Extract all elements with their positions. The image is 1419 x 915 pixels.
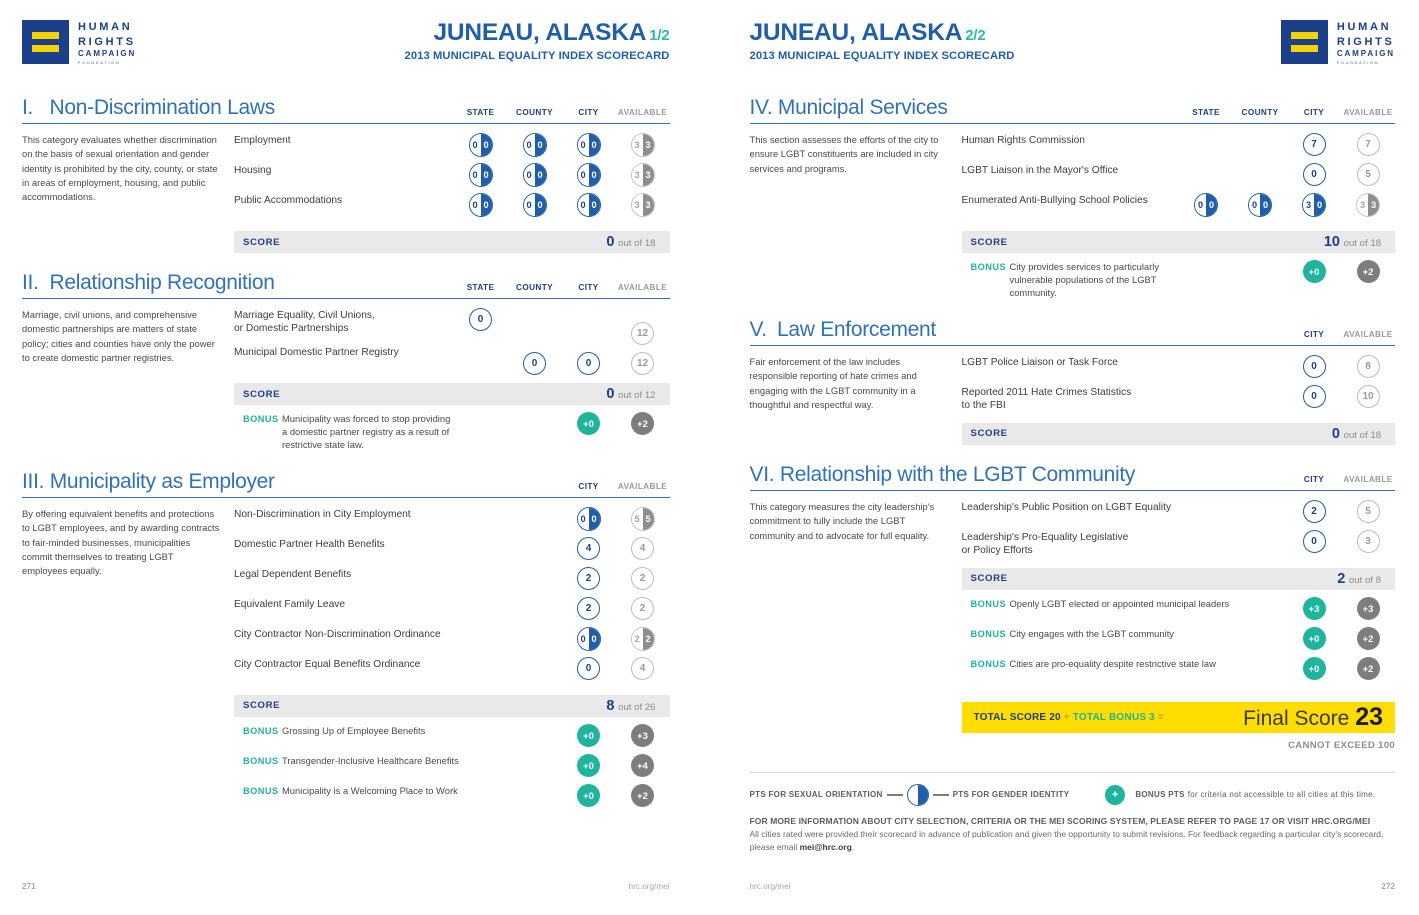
- hrc-logo: HUMAN RIGHTS CAMPAIGN FOUNDATION: [1281, 20, 1395, 65]
- criterion-label: LGBT Police Liaison or Task Force: [962, 355, 1288, 369]
- bonus-earned: +0: [577, 754, 600, 777]
- col-available: AVAILABLE: [1341, 108, 1395, 117]
- bonus-max: +3: [631, 724, 654, 747]
- score-split-available: 33: [631, 133, 655, 157]
- legend-dash-right: [933, 794, 949, 795]
- footer-url: hrc.org/mei: [629, 882, 670, 891]
- final-score: Final Score 23: [1243, 703, 1383, 732]
- criterion-row: Municipal Domestic Partner Registry 0 0 …: [234, 345, 670, 375]
- hrc-equals-icon: [22, 20, 69, 64]
- final-score-value: 23: [1355, 703, 1383, 731]
- col-available: AVAILABLE: [616, 108, 670, 117]
- criterion-row: Leadership's Public Position on LGBT Equ…: [962, 500, 1396, 530]
- page-subtitle-left: 2013 MUNICIPAL EQUALITY INDEX SCORECARD: [405, 50, 670, 62]
- hrc-word-human: HUMAN: [78, 20, 136, 35]
- score-split-city: 00: [577, 193, 601, 217]
- title-block-right: JUNEAU, ALASKA2/2 2013 MUNICIPAL EQUALIT…: [750, 20, 1015, 62]
- section-vi-header: VI. Relationship with the LGBT Community…: [750, 463, 1396, 491]
- score-split-city: 00: [577, 163, 601, 187]
- criterion-label: City Contractor Non-Discrimination Ordin…: [234, 627, 562, 641]
- total-area: TOTAL SCORE 20 + TOTAL BONUS 3 = Final S…: [962, 702, 1396, 751]
- col-county: COUNTY: [508, 108, 562, 117]
- bonus-row: BONUS Municipality was forced to stop pr…: [234, 412, 670, 452]
- hrc-equals-icon: [1281, 20, 1328, 64]
- score-circle-available: 10: [1357, 385, 1380, 408]
- criterion-row: Reported 2011 Hate Crimes Statistics to …: [962, 385, 1396, 415]
- legend-dash-left: [887, 794, 903, 795]
- col-county: COUNTY: [508, 283, 562, 292]
- score-circle-city: 0: [1303, 385, 1326, 408]
- section-iv-description: This section assesses the efforts of the…: [750, 133, 962, 300]
- score-circle-city: 2: [577, 567, 600, 590]
- score-circle-state: 0: [469, 308, 492, 331]
- column-headers-vi: CITY AVAILABLE: [1287, 475, 1395, 487]
- score-label: SCORE: [243, 700, 280, 711]
- section-vi-title: VI. Relationship with the LGBT Community: [750, 463, 1136, 487]
- bonus-text: Municipality is a Welcoming Place to Wor…: [282, 784, 562, 798]
- page-subtitle-right: 2013 MUNICIPAL EQUALITY INDEX SCORECARD: [750, 50, 1015, 62]
- col-available: AVAILABLE: [1341, 475, 1395, 484]
- score-split-county: 00: [523, 193, 547, 217]
- score-circle-city: 2: [1303, 500, 1326, 523]
- bonus-row: BONUS City engages with the LGBT communi…: [962, 627, 1396, 650]
- page-title-right: JUNEAU, ALASKA2/2: [750, 20, 1015, 47]
- score-split-state: 00: [469, 163, 493, 187]
- criterion-label: Municipal Domestic Partner Registry: [234, 345, 454, 359]
- score-split-available: 55: [631, 507, 655, 531]
- score-circle-city: 0: [1303, 355, 1326, 378]
- bonus-earned: +3: [1303, 597, 1326, 620]
- criterion-row: Legal Dependent Benefits 2 2: [234, 567, 670, 597]
- legend-split-circle-icon: [907, 784, 929, 806]
- criterion-label: Domestic Partner Health Benefits: [234, 537, 562, 551]
- title-block-left: JUNEAU, ALASKA1/2 2013 MUNICIPAL EQUALIT…: [405, 20, 670, 62]
- section-iv-header: IV. Municipal Services STATE COUNTY CITY…: [750, 96, 1396, 124]
- page-header-left: HUMAN RIGHTS CAMPAIGN FOUNDATION JUNEAU,…: [22, 20, 670, 78]
- criterion-label: City Contractor Equal Benefits Ordinance: [234, 657, 562, 671]
- criterion-label: Public Accommodations: [234, 193, 454, 207]
- bonus-row: BONUS Openly LGBT elected or appointed m…: [962, 597, 1396, 620]
- bonus-text: Municipality was forced to stop providin…: [282, 412, 454, 452]
- score-value: 2 out of 8: [1337, 571, 1381, 587]
- score-circle-available: 4: [631, 537, 654, 560]
- bonus-row: BONUS Transgender-Inclusive Healthcare B…: [234, 754, 670, 777]
- score-bar: SCORE 0 out of 18: [962, 423, 1396, 445]
- col-state: STATE: [1179, 108, 1233, 117]
- section-v-description: Fair enforcement of the law includes res…: [750, 355, 962, 445]
- col-city: CITY: [1287, 108, 1341, 117]
- legend-so-label: PTS FOR SEXUAL ORIENTATION: [750, 790, 883, 799]
- bonus-row: BONUS Grossing Up of Employee Benefits +…: [234, 724, 670, 747]
- bonus-max: +4: [631, 754, 654, 777]
- col-available: AVAILABLE: [616, 283, 670, 292]
- criterion-row: Non-Discrimination in City Employment 00…: [234, 507, 670, 537]
- page-header-right: JUNEAU, ALASKA2/2 2013 MUNICIPAL EQUALIT…: [750, 20, 1396, 78]
- section-ii-description: Marriage, civil unions, and comprehensiv…: [22, 308, 234, 452]
- hrc-word-rights: RIGHTS: [1337, 35, 1395, 50]
- score-split-county: 00: [523, 133, 547, 157]
- score-circle-available: 2: [631, 567, 654, 590]
- criterion-row: Public Accommodations 00 00 00 33: [234, 193, 670, 223]
- bonus-text: Cities are pro-equality despite restrict…: [1010, 657, 1288, 671]
- col-state: STATE: [454, 108, 508, 117]
- cannot-exceed-note: CANNOT EXCEED 100: [962, 740, 1396, 751]
- col-county: COUNTY: [1233, 108, 1287, 117]
- section-v-title: V. Law Enforcement: [750, 318, 936, 342]
- score-split-city: 00: [577, 507, 601, 531]
- criterion-label: Legal Dependent Benefits: [234, 567, 562, 581]
- hrc-wordmark: HUMAN RIGHTS CAMPAIGN FOUNDATION: [1337, 20, 1395, 65]
- bonus-max: +2: [1357, 657, 1380, 680]
- score-split-available: 33: [631, 193, 655, 217]
- section-iii-description: By offering equivalent benefits and prot…: [22, 507, 234, 807]
- total-score-bar: TOTAL SCORE 20 + TOTAL BONUS 3 = Final S…: [962, 702, 1396, 733]
- criterion-label: Human Rights Commission: [962, 133, 1180, 147]
- bonus-label: BONUS: [962, 627, 1010, 639]
- score-label: SCORE: [243, 237, 280, 248]
- col-available: AVAILABLE: [1341, 330, 1395, 339]
- score-split-available: 22: [631, 627, 655, 651]
- page-number: 272: [1381, 882, 1395, 891]
- page-footer-right: hrc.org/mei 272: [710, 882, 1419, 891]
- score-split-available: 33: [631, 163, 655, 187]
- col-state: STATE: [454, 283, 508, 292]
- page-footer-left: 271 hrc.org/mei: [0, 882, 710, 891]
- criterion-row: Employment 00 00 00 33: [234, 133, 670, 163]
- section-i-header: I. Non-Discrimination Laws STATE COUNTY …: [22, 96, 670, 124]
- bonus-row: BONUS Cities are pro-equality despite re…: [962, 657, 1396, 680]
- criterion-label: Marriage Equality, Civil Unions, or Dome…: [234, 308, 454, 336]
- criterion-row: Human Rights Commission 7 7: [962, 133, 1396, 163]
- bonus-max: +2: [631, 784, 654, 807]
- score-circle-available: 8: [1357, 355, 1380, 378]
- section-ii-title: II. Relationship Recognition: [22, 271, 275, 295]
- criterion-row: Leadership's Pro-Equality Legislative or…: [962, 530, 1396, 560]
- col-city: CITY: [562, 482, 616, 491]
- hrc-logo: HUMAN RIGHTS CAMPAIGN FOUNDATION: [22, 20, 136, 65]
- bonus-text: Transgender-Inclusive Healthcare Benefit…: [282, 754, 562, 768]
- bonus-earned: +0: [1303, 260, 1326, 283]
- bonus-label: BONUS: [234, 754, 282, 766]
- criterion-row: Equivalent Family Leave 2 2: [234, 597, 670, 627]
- score-bar: SCORE 10 out of 18: [962, 231, 1396, 253]
- score-split-city: 00: [577, 133, 601, 157]
- score-split-city: 30: [1302, 193, 1326, 217]
- criterion-row: LGBT Liaison in the Mayor's Office 0 5: [962, 163, 1396, 193]
- bonus-max: +2: [631, 412, 654, 435]
- criterion-row: City Contractor Equal Benefits Ordinance…: [234, 657, 670, 687]
- column-headers-iii: CITY AVAILABLE: [562, 482, 670, 494]
- legend-row: PTS FOR SEXUAL ORIENTATION PTS FOR GENDE…: [750, 784, 1396, 806]
- section-iii-header: III. Municipality as Employer CITY AVAIL…: [22, 470, 670, 498]
- score-value: 0 out of 18: [606, 234, 655, 250]
- criterion-label: Equivalent Family Leave: [234, 597, 562, 611]
- bonus-label: BONUS: [962, 657, 1010, 669]
- criterion-label: Housing: [234, 163, 454, 177]
- col-city: CITY: [1287, 475, 1341, 484]
- score-circle-available: 4: [631, 657, 654, 680]
- section-i-description: This category evaluates whether discrimi…: [22, 133, 234, 253]
- criterion-label: Leadership's Public Position on LGBT Equ…: [962, 500, 1288, 514]
- footnote: FOR MORE INFORMATION ABOUT CITY SELECTIO…: [750, 816, 1396, 854]
- column-headers-iv: STATE COUNTY CITY AVAILABLE: [1179, 108, 1395, 120]
- bonus-earned: +0: [577, 412, 600, 435]
- section-vi: VI. Relationship with the LGBT Community…: [750, 463, 1396, 680]
- column-headers-v: CITY AVAILABLE: [1287, 330, 1395, 342]
- total-bonus-value: 3: [1149, 712, 1155, 723]
- col-city: CITY: [1287, 330, 1341, 339]
- criterion-row: Domestic Partner Health Benefits 4 4: [234, 537, 670, 567]
- col-city: CITY: [562, 108, 616, 117]
- score-circle-city: 2: [577, 597, 600, 620]
- score-split-state: 00: [1194, 193, 1218, 217]
- bonus-text: Openly LGBT elected or appointed municip…: [1010, 597, 1288, 611]
- criterion-label: Enumerated Anti-Bullying School Policies: [962, 193, 1180, 207]
- bonus-text: City engages with the LGBT community: [1010, 627, 1288, 641]
- section-i-title: I. Non-Discrimination Laws: [22, 96, 275, 120]
- hrc-word-foundation: FOUNDATION: [78, 60, 136, 65]
- footer-url: hrc.org/mei: [750, 882, 791, 891]
- section-v: V. Law Enforcement CITY AVAILABLE Fair e…: [750, 318, 1396, 445]
- bonus-label: BONUS: [234, 784, 282, 796]
- bonus-label: BONUS: [962, 597, 1010, 609]
- contact-email: mei@hrc.org: [800, 842, 852, 852]
- scorecard-spread: HUMAN RIGHTS CAMPAIGN FOUNDATION JUNEAU,…: [0, 0, 1419, 915]
- criterion-label: Reported 2011 Hate Crimes Statistics to …: [962, 385, 1288, 413]
- criterion-label: LGBT Liaison in the Mayor's Office: [962, 163, 1180, 177]
- bonus-label: BONUS: [234, 412, 282, 424]
- criterion-label: Employment: [234, 133, 454, 147]
- score-value: 0 out of 18: [1332, 426, 1381, 442]
- bonus-earned: +0: [577, 724, 600, 747]
- hrc-word-foundation: FOUNDATION: [1337, 60, 1395, 65]
- hrc-wordmark: HUMAN RIGHTS CAMPAIGN FOUNDATION: [78, 20, 136, 65]
- score-circle-city: 0: [577, 657, 600, 680]
- score-value: 0 out of 12: [606, 386, 655, 402]
- score-value: 10 out of 18: [1324, 234, 1381, 250]
- score-bar: SCORE 0 out of 12: [234, 383, 670, 405]
- legend-bonus-label: BONUS PTS: [1135, 790, 1184, 799]
- criterion-row: City Contractor Non-Discrimination Ordin…: [234, 627, 670, 657]
- score-circle-available: 3: [1357, 530, 1380, 553]
- section-vi-description: This category measures the city leadersh…: [750, 500, 962, 680]
- page-marker-left: 1/2: [649, 27, 669, 44]
- page-right: JUNEAU, ALASKA2/2 2013 MUNICIPAL EQUALIT…: [710, 0, 1419, 915]
- score-circle-available: 5: [1357, 163, 1380, 186]
- section-ii: II. Relationship Recognition STATE COUNT…: [22, 271, 670, 452]
- section-iv-title: IV. Municipal Services: [750, 96, 948, 120]
- score-bar: SCORE 0 out of 18: [234, 231, 670, 253]
- score-circle-city: 0: [577, 352, 600, 375]
- criterion-row: LGBT Police Liaison or Task Force 0 8: [962, 355, 1396, 385]
- criterion-row: Marriage Equality, Civil Unions, or Dome…: [234, 308, 670, 345]
- score-circle-city: 0: [1303, 530, 1326, 553]
- score-circle-city: 7: [1303, 133, 1326, 156]
- criterion-label: Non-Discrimination in City Employment: [234, 507, 562, 521]
- bonus-row: BONUS City provides services to particul…: [962, 260, 1396, 300]
- legend-bonus-rest: for criteria not accessible to all citie…: [1188, 790, 1376, 799]
- score-split-county: 00: [523, 163, 547, 187]
- page-number: 271: [22, 882, 36, 891]
- column-headers-i: STATE COUNTY CITY AVAILABLE: [454, 108, 670, 120]
- score-label: SCORE: [971, 428, 1008, 439]
- hrc-word-campaign: CAMPAIGN: [78, 49, 136, 60]
- score-label: SCORE: [243, 389, 280, 400]
- hrc-word-rights: RIGHTS: [78, 35, 136, 50]
- score-split-county: 00: [1248, 193, 1272, 217]
- section-v-header: V. Law Enforcement CITY AVAILABLE: [750, 318, 1396, 346]
- bonus-max: +3: [1357, 597, 1380, 620]
- score-split-state: 00: [469, 133, 493, 157]
- hrc-word-campaign: CAMPAIGN: [1337, 49, 1395, 60]
- bonus-row: BONUS Municipality is a Welcoming Place …: [234, 784, 670, 807]
- footnote-more-info: FOR MORE INFORMATION ABOUT CITY SELECTIO…: [750, 816, 1396, 826]
- score-circle-city: 4: [577, 537, 600, 560]
- bonus-text: Grossing Up of Employee Benefits: [282, 724, 562, 738]
- page-title-left: JUNEAU, ALASKA1/2: [405, 20, 670, 47]
- score-bar: SCORE 8 out of 26: [234, 695, 670, 717]
- hrc-word-human: HUMAN: [1337, 20, 1395, 35]
- section-i: I. Non-Discrimination Laws STATE COUNTY …: [22, 96, 670, 253]
- score-split-state: 00: [469, 193, 493, 217]
- bonus-label: BONUS: [962, 260, 1010, 272]
- score-circle-available: 12: [631, 352, 654, 375]
- criterion-row: Enumerated Anti-Bullying School Policies…: [962, 193, 1396, 223]
- score-circle-county: 0: [523, 352, 546, 375]
- score-label: SCORE: [971, 237, 1008, 248]
- score-circle-available: 2: [631, 597, 654, 620]
- legend-plus-icon: +: [1105, 785, 1125, 805]
- score-circle-available: 12: [631, 322, 654, 345]
- page-left: HUMAN RIGHTS CAMPAIGN FOUNDATION JUNEAU,…: [0, 0, 710, 915]
- total-breakdown: TOTAL SCORE 20 + TOTAL BONUS 3 =: [974, 712, 1164, 723]
- section-ii-header: II. Relationship Recognition STATE COUNT…: [22, 271, 670, 299]
- bonus-text: City provides services to particularly v…: [1010, 260, 1180, 300]
- page-marker-right: 2/2: [965, 27, 985, 44]
- bonus-earned: +0: [577, 784, 600, 807]
- section-iv: IV. Municipal Services STATE COUNTY CITY…: [750, 96, 1396, 300]
- section-iii-title: III. Municipality as Employer: [22, 470, 275, 494]
- footnote-revisions: All cities rated were provided their sco…: [750, 828, 1396, 854]
- bonus-label: BONUS: [234, 724, 282, 736]
- criterion-label: Leadership's Pro-Equality Legislative or…: [962, 530, 1288, 558]
- score-split-available: 33: [1356, 193, 1380, 217]
- bonus-max: +2: [1357, 627, 1380, 650]
- score-bar: SCORE 2 out of 8: [962, 568, 1396, 590]
- bonus-earned: +0: [1303, 627, 1326, 650]
- score-label: SCORE: [971, 573, 1008, 584]
- legend-gi-label: PTS FOR GENDER IDENTITY: [953, 790, 1070, 799]
- column-headers-ii: STATE COUNTY CITY AVAILABLE: [454, 283, 670, 295]
- score-circle-available: 7: [1357, 133, 1380, 156]
- criterion-row: Housing 00 00 00 33: [234, 163, 670, 193]
- section-iii: III. Municipality as Employer CITY AVAIL…: [22, 470, 670, 807]
- score-value: 8 out of 26: [606, 698, 655, 714]
- bonus-earned: +0: [1303, 657, 1326, 680]
- bonus-max: +2: [1357, 260, 1380, 283]
- score-split-city: 00: [577, 627, 601, 651]
- col-city: CITY: [562, 283, 616, 292]
- total-score-value: 20: [1049, 712, 1061, 723]
- score-circle-city: 0: [1303, 163, 1326, 186]
- legend-divider: [750, 772, 1396, 773]
- score-circle-available: 5: [1357, 500, 1380, 523]
- col-available: AVAILABLE: [616, 482, 670, 491]
